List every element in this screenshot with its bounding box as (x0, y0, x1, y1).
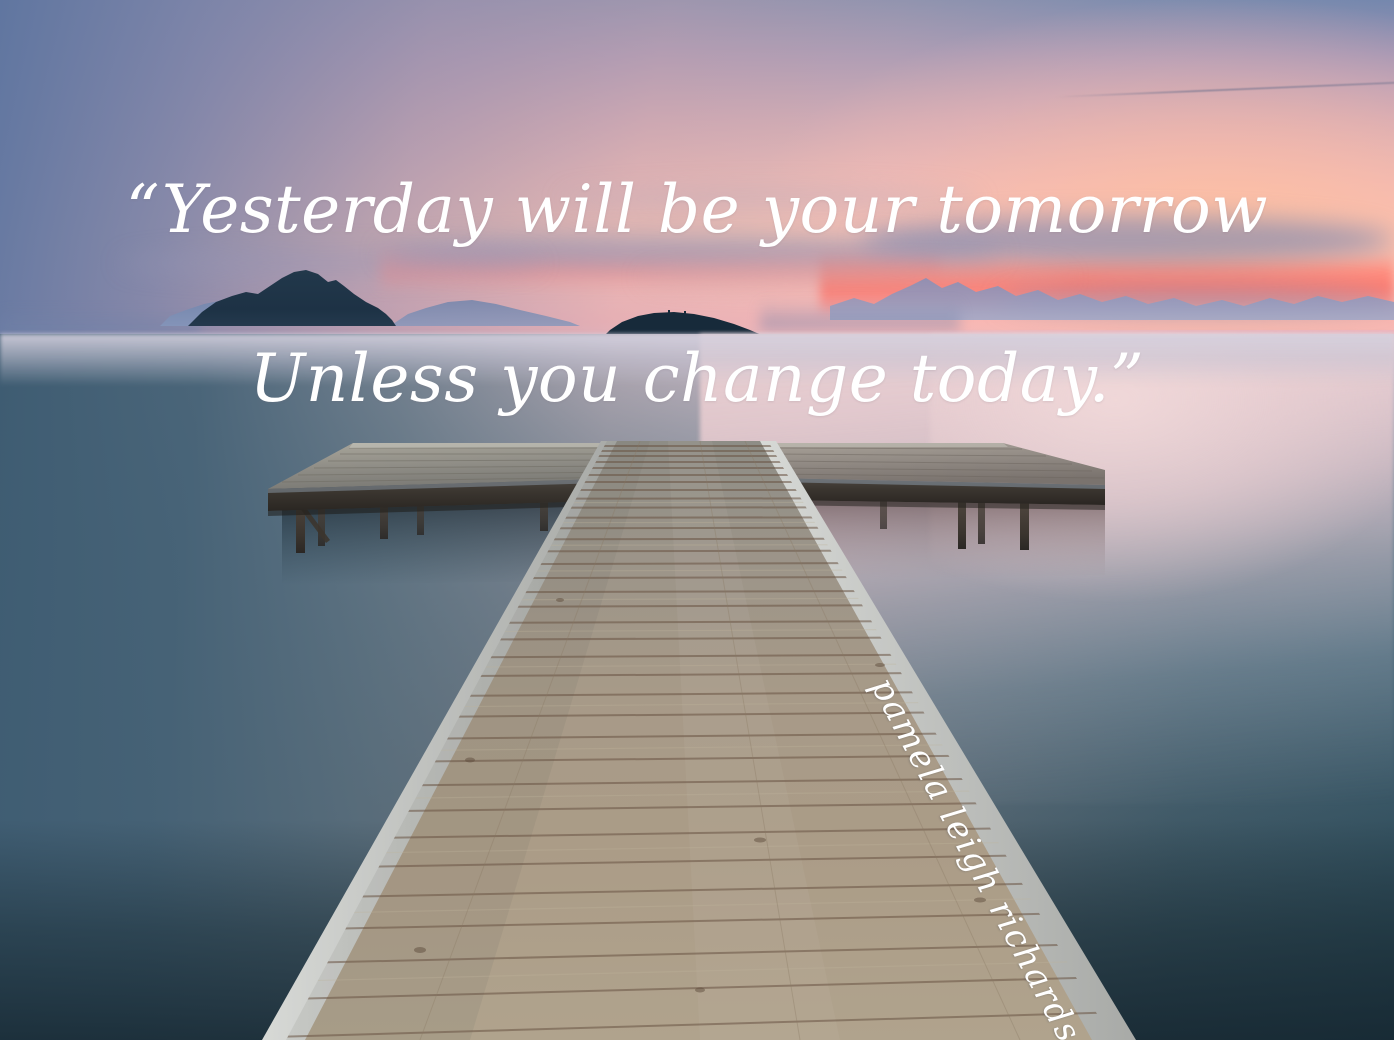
quote-line-1: “Yesterday will be your tomorrow (0, 168, 1394, 252)
quote-line-2: Unless you change today.” (0, 337, 1394, 421)
quote-text: “Yesterday will be your tomorrow Unless … (0, 84, 1394, 506)
quote-image-canvas: “Yesterday will be your tomorrow Unless … (0, 0, 1394, 1040)
